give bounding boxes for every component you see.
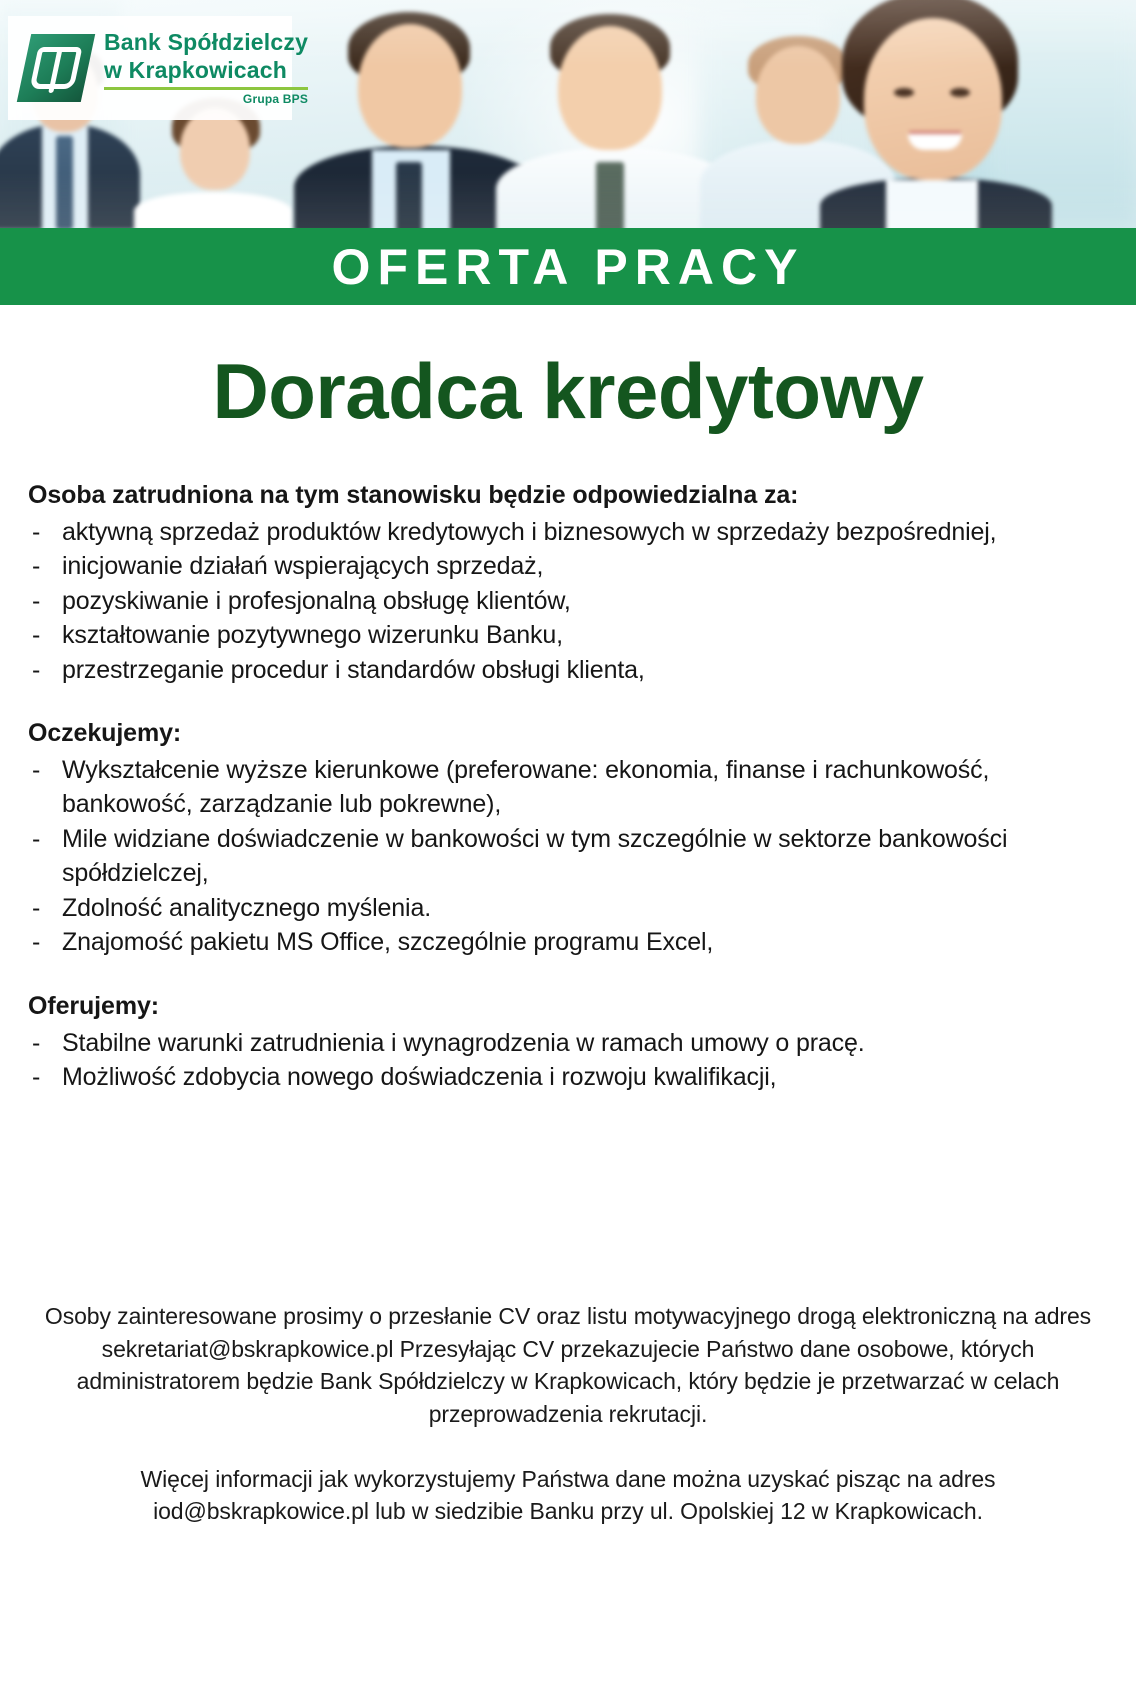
- list-item: -aktywną sprzedaż produktów kredytowych …: [28, 515, 1108, 550]
- list-item: -przestrzeganie procedur i standardów ob…: [28, 653, 1108, 688]
- list-item-text: kształtowanie pozytywnego wizerunku Bank…: [62, 618, 1108, 653]
- section-heading: Osoba zatrudniona na tym stanowisku będz…: [28, 479, 1108, 513]
- list-item: -inicjowanie działań wspierających sprze…: [28, 549, 1108, 584]
- bullet-marker: -: [28, 822, 62, 857]
- section-heading: Oczekujemy:: [28, 717, 1108, 751]
- list-item-text: Znajomość pakietu MS Office, szczególnie…: [62, 925, 1108, 960]
- list-item-text: Zdolność analitycznego myślenia.: [62, 891, 1108, 926]
- bullet-marker: -: [28, 753, 62, 788]
- list-item-text: Możliwość zdobycia nowego doświadczenia …: [62, 1060, 1108, 1095]
- bullet-marker: -: [28, 1060, 62, 1095]
- header-photo-banner: Bank Spółdzielczy w Krapkowicach Grupa B…: [0, 0, 1136, 228]
- list-item-text: pozyskiwanie i profesjonalną obsługę kli…: [62, 584, 1108, 619]
- footer-paragraph-application: Osoby zainteresowane prosimy o przesłani…: [36, 1300, 1100, 1431]
- list-item: -kształtowanie pozytywnego wizerunku Ban…: [28, 618, 1108, 653]
- bullet-marker: -: [28, 549, 62, 584]
- offer-content: Osoba zatrudniona na tym stanowisku będz…: [0, 461, 1136, 1095]
- section-bullet-list: -Stabilne warunki zatrudnienia i wynagro…: [28, 1026, 1108, 1095]
- section-bullet-list: -aktywną sprzedaż produktów kredytowych …: [28, 515, 1108, 688]
- bullet-marker: -: [28, 653, 62, 688]
- banner-title: OFERTA PRACY: [332, 242, 805, 292]
- offer-banner: OFERTA PRACY: [0, 228, 1136, 305]
- bank-logo: Bank Spółdzielczy w Krapkowicach Grupa B…: [8, 16, 292, 120]
- list-item-text: inicjowanie działań wspierających sprzed…: [62, 549, 1108, 584]
- list-item: -Stabilne warunki zatrudnienia i wynagro…: [28, 1026, 1108, 1061]
- logo-text-block: Bank Spółdzielczy w Krapkowicach Grupa B…: [104, 31, 308, 105]
- list-item-text: przestrzeganie procedur i standardów obs…: [62, 653, 1108, 688]
- footer-spacer: [36, 1431, 1100, 1463]
- list-item: -Wykształcenie wyższe kierunkowe (prefer…: [28, 753, 1108, 822]
- section-spacer: [28, 687, 1108, 717]
- logo-line-1: Bank Spółdzielczy: [104, 31, 308, 54]
- footer-block: Osoby zainteresowane prosimy o przesłani…: [0, 1300, 1136, 1528]
- list-item: -Znajomość pakietu MS Office, szczególni…: [28, 925, 1108, 960]
- section-bullet-list: -Wykształcenie wyższe kierunkowe (prefer…: [28, 753, 1108, 960]
- bullet-marker: -: [28, 925, 62, 960]
- list-item-text: Stabilne warunki zatrudnienia i wynagrod…: [62, 1026, 1108, 1061]
- bullet-marker: -: [28, 618, 62, 653]
- bullet-marker: -: [28, 1026, 62, 1061]
- page-title: Doradca kredytowy: [0, 351, 1136, 433]
- bullet-marker: -: [28, 515, 62, 550]
- logo-line-2: w Krapkowicach: [104, 59, 308, 82]
- list-item-text: Wykształcenie wyższe kierunkowe (prefero…: [62, 753, 1108, 822]
- section-spacer: [28, 960, 1108, 990]
- list-item: -Możliwość zdobycia nowego doświadczenia…: [28, 1060, 1108, 1095]
- logo-group-label: Grupa BPS: [104, 93, 308, 105]
- footer-paragraph-gdpr: Więcej informacji jak wykorzystujemy Pań…: [36, 1463, 1100, 1528]
- section-heading: Oferujemy:: [28, 990, 1108, 1024]
- list-item: -Zdolność analitycznego myślenia.: [28, 891, 1108, 926]
- job-title-section: Doradca kredytowy: [0, 305, 1136, 461]
- open-book-icon: [20, 31, 94, 105]
- bullet-marker: -: [28, 584, 62, 619]
- job-offer-poster: Bank Spółdzielczy w Krapkowicach Grupa B…: [0, 0, 1136, 1700]
- list-item: -Mile widziane doświadczenie w bankowośc…: [28, 822, 1108, 891]
- list-item: -pozyskiwanie i profesjonalną obsługę kl…: [28, 584, 1108, 619]
- list-item-text: aktywną sprzedaż produktów kredytowych i…: [62, 515, 1108, 550]
- bullet-marker: -: [28, 891, 62, 926]
- logo-underline: [104, 87, 308, 90]
- list-item-text: Mile widziane doświadczenie w bankowości…: [62, 822, 1108, 891]
